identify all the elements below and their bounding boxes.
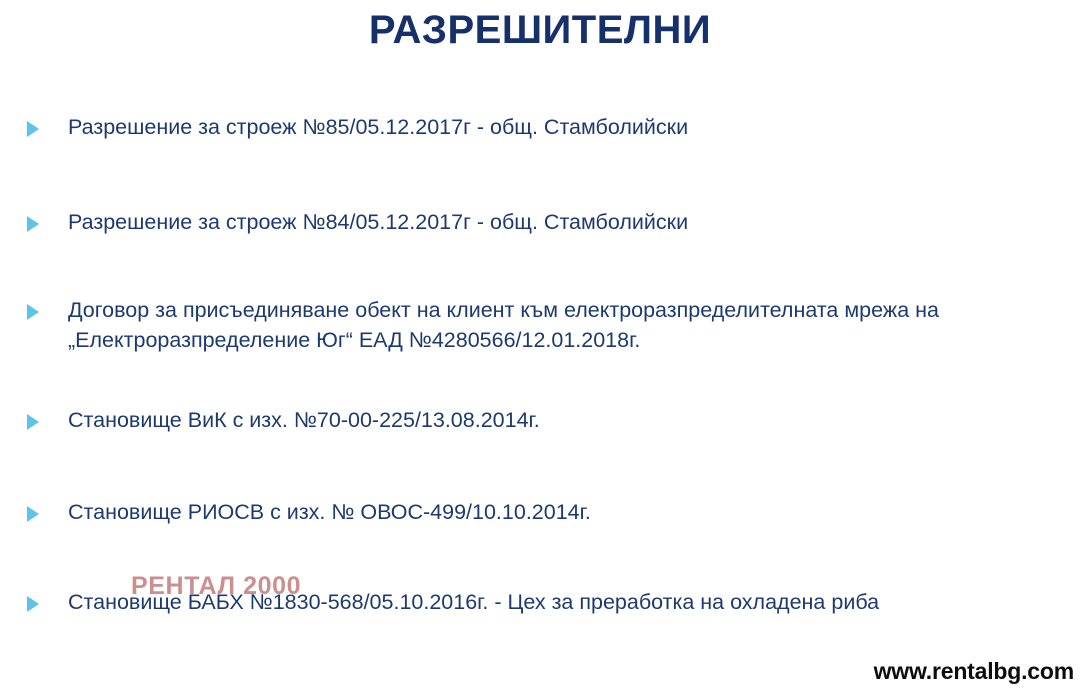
triangle-right-icon	[27, 506, 39, 522]
triangle-right-icon	[27, 304, 39, 320]
triangle-right-icon	[27, 596, 39, 612]
list-item: Разрешение за строеж №85/05.12.2017г - о…	[0, 112, 1080, 142]
list-item: Становище ВиК с изх. №70-00-225/13.08.20…	[0, 405, 1080, 435]
presentation-slide: РАЗРЕШИТЕЛНИ Разрешение за строеж №85/05…	[0, 0, 1080, 691]
permits-bullet-list: Разрешение за строеж №85/05.12.2017г - о…	[0, 112, 1080, 617]
company-watermark: РЕНТАЛ 2000	[131, 572, 301, 601]
list-item-label: Разрешение за строеж №84/05.12.2017г - о…	[68, 207, 1072, 237]
page-title: РАЗРЕШИТЕЛНИ	[0, 8, 1080, 53]
list-item: Разрешение за строеж №84/05.12.2017г - о…	[0, 207, 1080, 237]
triangle-right-icon	[27, 414, 39, 430]
list-item-label: Становище РИОСВ с изх. № ОВОС-499/10.10.…	[68, 497, 1072, 527]
website-url: www.rentalbg.com	[874, 658, 1074, 685]
list-item: Становище РИОСВ с изх. № ОВОС-499/10.10.…	[0, 497, 1080, 527]
list-item-label: Становище ВиК с изх. №70-00-225/13.08.20…	[68, 405, 1072, 435]
list-item-label: Договор за присъединяване обект на клиен…	[68, 295, 1072, 355]
list-item: Договор за присъединяване обект на клиен…	[0, 295, 1080, 355]
list-item-label: Разрешение за строеж №85/05.12.2017г - о…	[68, 112, 1072, 142]
triangle-right-icon	[27, 216, 39, 232]
triangle-right-icon	[27, 121, 39, 137]
